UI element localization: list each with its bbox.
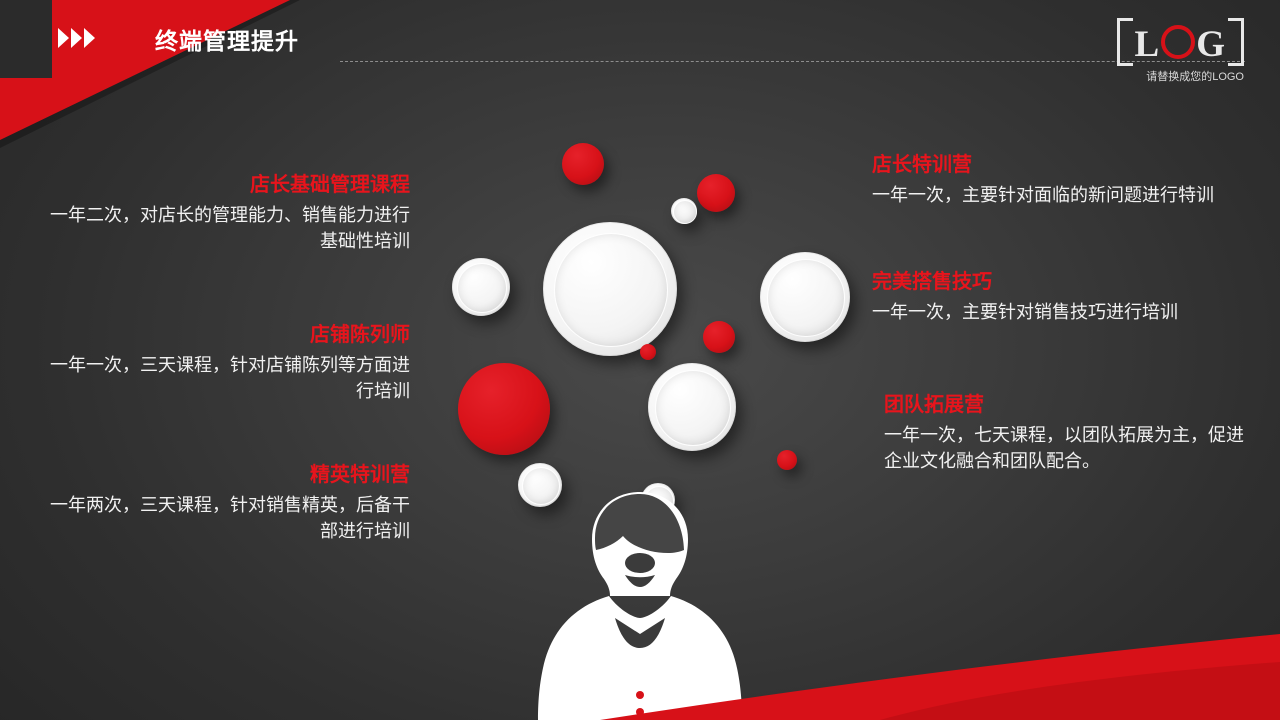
bubble-white-main [543, 222, 677, 356]
bubble-red-big [458, 363, 550, 455]
slide-canvas: 终端管理提升 LG 请替换成您的LOGO [0, 0, 1280, 720]
info-block-left-1: 店长基础管理课程 一年二次，对店长的管理能力、销售能力进行基础性培训 [50, 168, 410, 254]
logo: LG [1117, 18, 1244, 66]
info-block-body: 一年一次，主要针对面临的新问题进行特训 [872, 183, 1232, 209]
bottom-red-shape [0, 634, 1280, 720]
bubble-white-tiny [671, 198, 697, 224]
logo-o-ring-icon [1161, 25, 1195, 59]
chevron-icon [58, 28, 95, 48]
bubble-white-left [452, 258, 510, 316]
info-block-title: 店长特训营 [872, 148, 1232, 177]
bubble-red-dot [640, 344, 656, 360]
info-block-right-3: 团队拓展营 一年一次，七天课程，以团队拓展为主，促进企业文化融合和团队配合。 [884, 388, 1244, 474]
bubble-red-small [777, 450, 797, 470]
header-corner-block [0, 0, 52, 78]
info-block-title: 完美搭售技巧 [872, 265, 1232, 294]
info-block-body: 一年一次，主要针对销售技巧进行培训 [872, 300, 1232, 326]
info-block-body: 一年两次，三天课程，针对销售精英，后备干部进行培训 [50, 493, 410, 544]
info-block-body: 一年二次，对店长的管理能力、销售能力进行基础性培训 [50, 203, 410, 254]
bubble-white-mid [648, 363, 736, 451]
info-block-body: 一年一次，三天课程，针对店铺陈列等方面进行培训 [50, 353, 410, 404]
info-block-right-1: 店长特训营 一年一次，主要针对面临的新问题进行特训 [872, 148, 1232, 209]
header-divider [340, 61, 1245, 62]
bubble-red-upper [697, 174, 735, 212]
info-block-body: 一年一次，七天课程，以团队拓展为主，促进企业文化融合和团队配合。 [884, 423, 1244, 474]
info-block-title: 精英特训营 [50, 458, 410, 487]
info-block-left-2: 店铺陈列师 一年一次，三天课程，针对店铺陈列等方面进行培训 [50, 318, 410, 404]
bubble-red-top [562, 143, 604, 185]
bubble-red-mid [703, 321, 735, 353]
info-block-title: 店铺陈列师 [50, 318, 410, 347]
info-block-title: 店长基础管理课程 [50, 168, 410, 197]
page-title: 终端管理提升 [155, 22, 299, 56]
logo-bracket-right-icon [1228, 18, 1244, 66]
logo-caption: 请替换成您的LOGO [1146, 68, 1244, 84]
bubble-white-right [760, 252, 850, 342]
logo-bracket-left-icon [1117, 18, 1133, 66]
info-block-title: 团队拓展营 [884, 388, 1244, 417]
logo-text: LG [1133, 20, 1228, 65]
info-block-left-3: 精英特训营 一年两次，三天课程，针对销售精英，后备干部进行培训 [50, 458, 410, 544]
info-block-right-2: 完美搭售技巧 一年一次，主要针对销售技巧进行培训 [872, 265, 1232, 326]
